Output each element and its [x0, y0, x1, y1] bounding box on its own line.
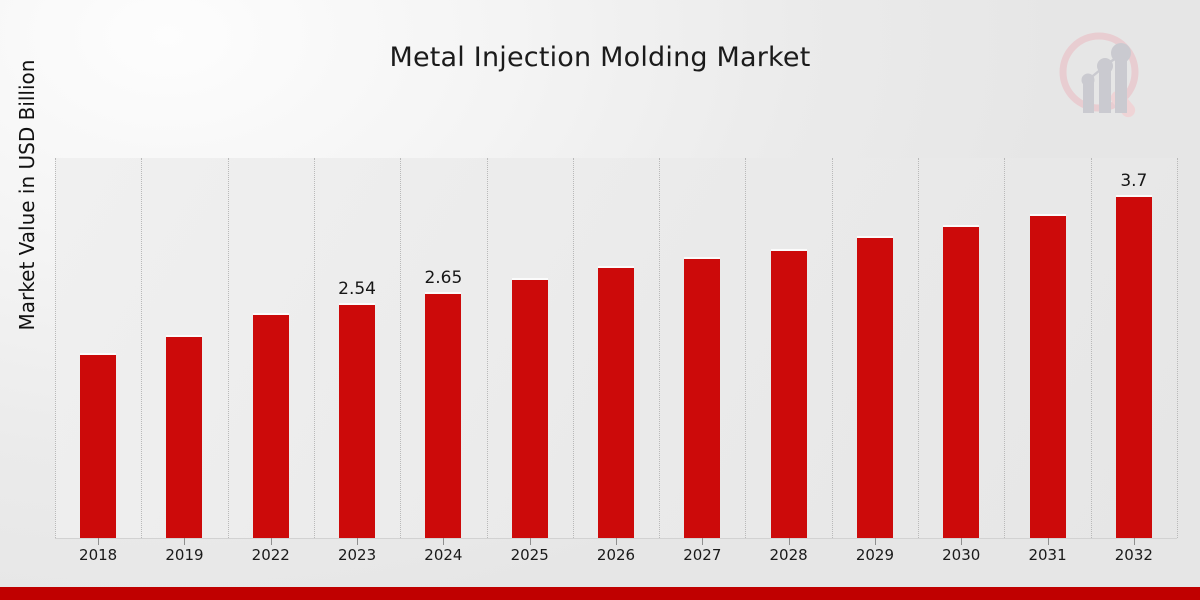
- x-axis-tick-2031: [1048, 538, 1049, 545]
- gridline-vertical: [55, 158, 57, 538]
- x-axis-label-2025: 2025: [495, 546, 565, 564]
- bar-2031: [1030, 214, 1066, 538]
- x-axis-tick-2028: [789, 538, 790, 545]
- x-axis-label-2024: 2024: [408, 546, 478, 564]
- x-axis-tick-2022: [271, 538, 272, 545]
- x-axis-tick-2024: [443, 538, 444, 545]
- bar-2018: [80, 353, 116, 538]
- gridline-vertical: [228, 158, 230, 538]
- gridline-vertical: [1004, 158, 1006, 538]
- gridline-vertical: [487, 158, 489, 538]
- bar-value-label-2023: 2.54: [322, 279, 392, 299]
- gridline-vertical: [918, 158, 920, 538]
- x-axis-tick-2025: [530, 538, 531, 545]
- bar-value-label-2024: 2.65: [408, 268, 478, 288]
- x-axis-label-2018: 2018: [63, 546, 133, 564]
- bar-2028: [771, 249, 807, 538]
- x-axis-tick-2032: [1134, 538, 1135, 545]
- gridline-vertical: [832, 158, 834, 538]
- x-axis-label-2026: 2026: [581, 546, 651, 564]
- gridline-vertical: [400, 158, 402, 538]
- x-axis-tick-2029: [875, 538, 876, 545]
- gridline-vertical: [573, 158, 575, 538]
- bar-2022: [253, 313, 289, 538]
- x-axis-label-2028: 2028: [754, 546, 824, 564]
- x-axis-label-2019: 2019: [149, 546, 219, 564]
- x-axis-label-2032: 2032: [1099, 546, 1169, 564]
- bar-2025: [512, 278, 548, 538]
- gridline-vertical: [1091, 158, 1093, 538]
- gridline-vertical: [659, 158, 661, 538]
- plot-area: [55, 158, 1177, 538]
- bar-2024: [425, 292, 461, 538]
- market-research-logo-icon: [1054, 26, 1158, 130]
- x-axis-label-2023: 2023: [322, 546, 392, 564]
- bar-2027: [684, 257, 720, 538]
- bar-2029: [857, 236, 893, 538]
- gridline-vertical: [141, 158, 143, 538]
- x-axis-tick-2026: [616, 538, 617, 545]
- x-axis-label-2029: 2029: [840, 546, 910, 564]
- bar-value-label-2032: 3.7: [1099, 171, 1169, 191]
- x-axis-label-2027: 2027: [667, 546, 737, 564]
- x-axis-tick-2030: [961, 538, 962, 545]
- y-axis-title: Market Value in USD Billion: [15, 0, 41, 395]
- bar-2026: [598, 266, 634, 538]
- x-axis-tick-2018: [98, 538, 99, 545]
- gridline-vertical: [314, 158, 316, 538]
- chart-figure: Metal Injection Molding Market Market Va…: [0, 0, 1200, 600]
- x-axis-label-2030: 2030: [926, 546, 996, 564]
- bar-2019: [166, 335, 202, 538]
- x-axis-tick-2027: [702, 538, 703, 545]
- x-axis-label-2022: 2022: [236, 546, 306, 564]
- x-axis-tick-2019: [184, 538, 185, 545]
- bar-2030: [943, 225, 979, 538]
- x-axis-label-2031: 2031: [1013, 546, 1083, 564]
- gridline-vertical: [745, 158, 747, 538]
- gridline-vertical: [1177, 158, 1179, 538]
- bar-2032: [1116, 195, 1152, 538]
- bar-2023: [339, 303, 375, 538]
- footer-accent-band: [0, 587, 1200, 600]
- x-axis-tick-2023: [357, 538, 358, 545]
- page-title: Metal Injection Molding Market: [0, 42, 1200, 73]
